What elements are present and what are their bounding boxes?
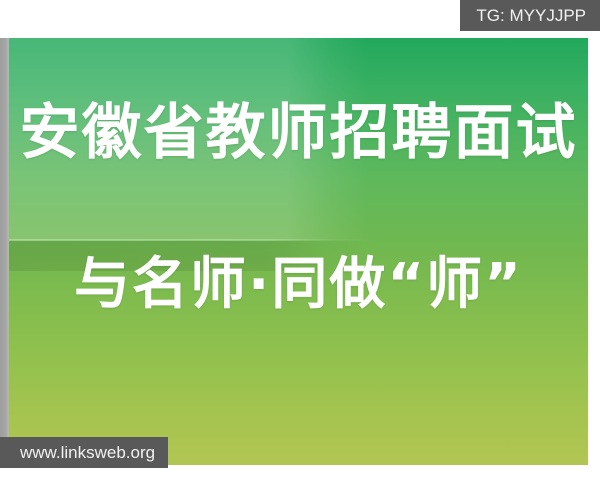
poster-headline-sub: 与名师·同做“师”: [9, 252, 588, 318]
left-edge-shadow: [0, 38, 9, 468]
poster-headline-main: 安徽省教师招聘面试: [9, 98, 588, 168]
telegram-watermark-badge: TG: MYYJJPP: [460, 0, 600, 31]
poster-image: 安徽省教师招聘面试 与名师·同做“师” TG: MYYJJPP www.link…: [0, 0, 600, 480]
site-watermark-badge: www.linksweb.org: [0, 437, 168, 468]
